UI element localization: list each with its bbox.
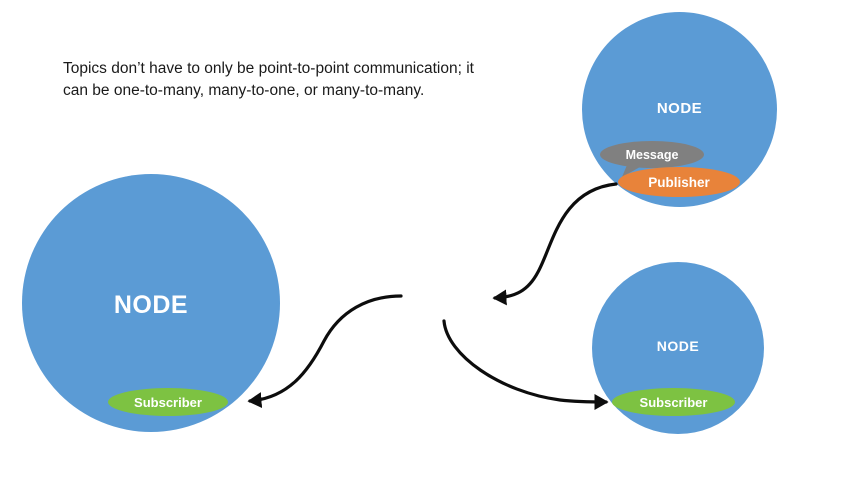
subscriber-left-label: Subscriber [134,395,202,410]
diagram-canvas: Topics don’t have to only be point-to-po… [0,0,854,480]
node-bottom-right-label: NODE [592,338,764,354]
connector-topic-to-subscriber-bottom-right [444,321,606,402]
publisher-ellipse[interactable]: Publisher [618,167,740,197]
caption-text: Topics don’t have to only be point-to-po… [63,58,483,103]
node-top-right-label: NODE [582,100,777,117]
subscriber-ellipse-bottom-right[interactable]: Subscriber [612,388,735,416]
subscriber-bottom-right-label: Subscriber [640,395,708,410]
message-bubble[interactable]: Message [600,141,704,168]
publisher-label: Publisher [648,175,710,190]
connector-publisher-to-topic [495,184,616,298]
message-label: Message [600,141,704,168]
subscriber-ellipse-left[interactable]: Subscriber [108,388,228,416]
node-left-label: NODE [22,291,280,320]
